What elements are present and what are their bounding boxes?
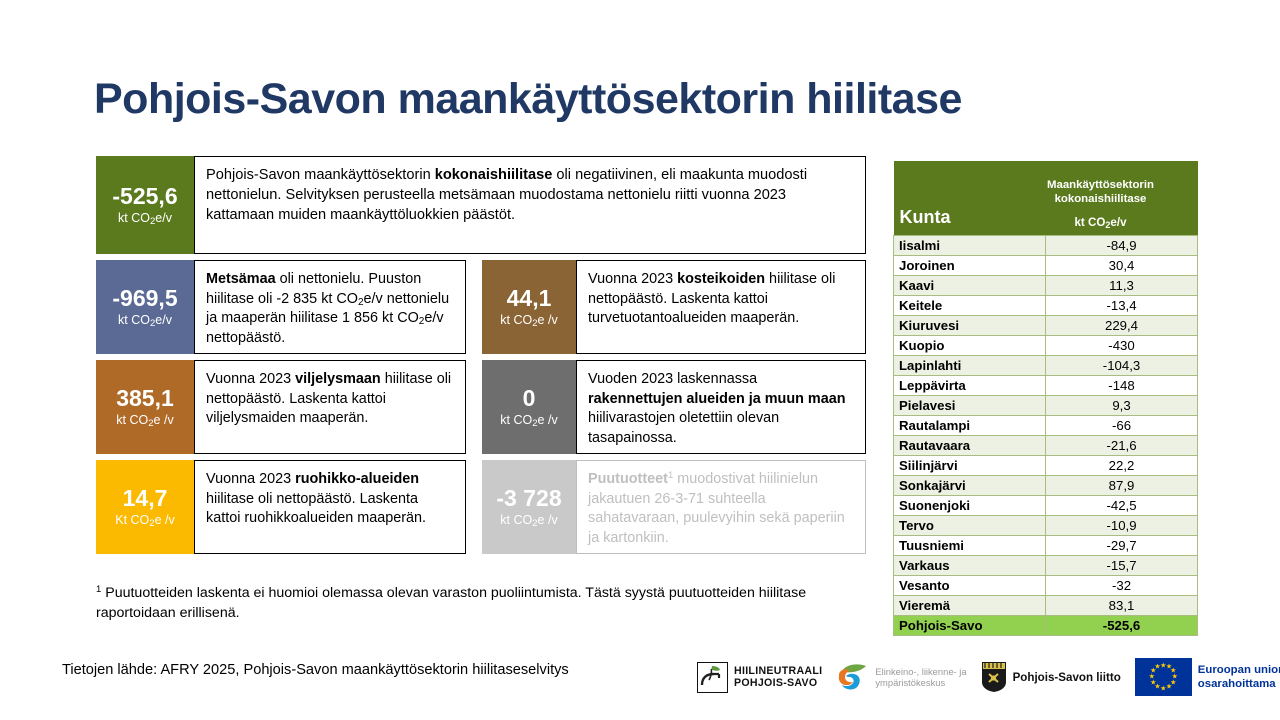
textbox-forest: Metsämaa oli nettonielu. Puuston hiilita… [194, 260, 466, 354]
table-cell-municipality: Tuusniemi [894, 536, 1046, 556]
badge-total: -525,6 kt CO2e/v [96, 156, 194, 254]
footnote: 1 Puutuotteiden laskenta ei huomioi olem… [96, 583, 871, 623]
textbox-settlement-text: Vuoden 2023 laskennassa rakennettujen al… [588, 370, 854, 448]
table-header-metric-line1: Maankäyttösektorin [1010, 178, 1192, 192]
badge-settlement: 0 kt CO2e /v [482, 360, 576, 454]
table-cell-value: -66 [1046, 416, 1198, 436]
badge-woodproducts: -3 728 kt CO2e /v [482, 460, 576, 554]
textbox-wetland: Vuonna 2023 kosteikoiden hiilitase oli n… [576, 260, 866, 354]
textbox-cropland-text: Vuonna 2023 viljelysmaan hiilitase oli n… [206, 370, 454, 429]
eu-funding-label: Euroopan unionin osarahoittama [1198, 663, 1280, 692]
table-row: Kiuruvesi229,4 [894, 316, 1198, 336]
table-cell-value: 30,4 [1046, 256, 1198, 276]
table-cell-municipality: Rautavaara [894, 436, 1046, 456]
table-cell-value: 9,3 [1046, 396, 1198, 416]
table-row: Pielavesi9,3 [894, 396, 1198, 416]
badge-grassland: 14,7 Kt CO2e /v [96, 460, 194, 554]
table-cell-value: 11,3 [1046, 276, 1198, 296]
eu-flag-icon: ★★★★★★★★★★★★ [1135, 658, 1192, 696]
panel-gap [466, 460, 482, 554]
logo-ely: Elinkeino-, liikenne- ja ympäristökeskus [836, 662, 966, 693]
table-cell-municipality: Rautalampi [894, 416, 1046, 436]
table-cell-value: -13,4 [1046, 296, 1198, 316]
badge-cropland-value: 385,1 [116, 386, 174, 410]
hiilineutraali-icon [697, 662, 728, 693]
table-cell-value: 87,9 [1046, 476, 1198, 496]
table-row: Keitele-13,4 [894, 296, 1198, 316]
panel-gap [466, 260, 482, 354]
table-row: Siilinjärvi22,2 [894, 456, 1198, 476]
ely-keskus-label: Elinkeino-, liikenne- ja ympäristökeskus [875, 666, 966, 689]
table-cell-value: -104,3 [1046, 356, 1198, 376]
table-cell-value: -32 [1046, 576, 1198, 596]
table-cell-municipality: Siilinjärvi [894, 456, 1046, 476]
table-cell-municipality: Kiuruvesi [894, 316, 1046, 336]
logo-eu: ★★★★★★★★★★★★ Euroopan unionin osarahoitt… [1135, 658, 1280, 696]
eu-star-icon: ★ [1154, 664, 1160, 671]
badge-woodproducts-value: -3 728 [496, 486, 561, 510]
table-total-value: -525,6 [1046, 616, 1198, 636]
footnote-text: Puutuotteiden laskenta ei huomioi olemas… [96, 585, 806, 621]
logo-bar: HIILINEUTRAALI POHJOIS-SAVO Elinkeino-, … [697, 655, 1280, 699]
table-row: Kuopio-430 [894, 336, 1198, 356]
badge-wetland-unit: kt CO2e /v [500, 313, 557, 328]
textbox-settlement: Vuoden 2023 laskennassa rakennettujen al… [576, 360, 866, 454]
footnote-marker: 1 [96, 584, 101, 595]
badge-forest-unit: kt CO2e/v [118, 313, 172, 328]
table-cell-municipality: Kuopio [894, 336, 1046, 356]
table-row: Leppävirta-148 [894, 376, 1198, 396]
ely-keskus-icon [836, 662, 869, 693]
eu-star-icon: ★ [1160, 685, 1166, 692]
hiilineutraali-label: HIILINEUTRAALI POHJOIS-SAVO [734, 665, 822, 689]
table-row: Rautalampi-66 [894, 416, 1198, 436]
badge-settlement-unit: kt CO2e /v [500, 413, 557, 428]
table-header-unit: kt CO2e/v [1010, 216, 1192, 230]
table-row: Iisalmi-84,9 [894, 236, 1198, 256]
table-row: Varkaus-15,7 [894, 556, 1198, 576]
badge-grassland-value: 14,7 [123, 486, 168, 510]
table-cell-value: -10,9 [1046, 516, 1198, 536]
municipality-table-wrap: Kunta Maankäyttösektorin kokonaishiilita… [893, 161, 1198, 636]
table-row: Vieremä83,1 [894, 596, 1198, 616]
textbox-forest-text: Metsämaa oli nettonielu. Puuston hiilita… [206, 270, 454, 348]
table-cell-value: -84,9 [1046, 236, 1198, 256]
table-cell-municipality: Sonkajärvi [894, 476, 1046, 496]
table-cell-value: -148 [1046, 376, 1198, 396]
table-header-row: Kunta Maankäyttösektorin kokonaishiilita… [894, 161, 1198, 236]
table-cell-value: -430 [1046, 336, 1198, 356]
table-cell-municipality: Vesanto [894, 576, 1046, 596]
table-cell-municipality: Lapinlahti [894, 356, 1046, 376]
badge-grassland-unit: Kt CO2e /v [115, 513, 175, 528]
textbox-wetland-text: Vuonna 2023 kosteikoiden hiilitase oli n… [588, 270, 854, 329]
table-row: Lapinlahti-104,3 [894, 356, 1198, 376]
panel-gap [466, 360, 482, 454]
table-row: Sonkajärvi87,9 [894, 476, 1198, 496]
table-cell-municipality: Tervo [894, 516, 1046, 536]
textbox-grassland-text: Vuonna 2023 ruohikko-alueiden hiilitase … [206, 470, 454, 529]
table-row: Tuusniemi-29,7 [894, 536, 1198, 556]
table-row: Joroinen30,4 [894, 256, 1198, 276]
panel-row-total: -525,6 kt CO2e/v Pohjois-Savon maankäytt… [96, 156, 866, 254]
badge-total-value: -525,6 [112, 184, 177, 208]
table-body: Iisalmi-84,9Joroinen30,4Kaavi11,3Keitele… [894, 236, 1198, 636]
textbox-total-text: Pohjois-Savon maankäyttösektorin kokonai… [206, 166, 854, 226]
badge-settlement-value: 0 [523, 386, 536, 410]
panel-row-grassland-woodproducts: 14,7 Kt CO2e /v Vuonna 2023 ruohikko-alu… [96, 460, 866, 554]
table-row: Suonenjoki-42,5 [894, 496, 1198, 516]
table-cell-value: 83,1 [1046, 596, 1198, 616]
badge-total-unit: kt CO2e/v [118, 211, 172, 226]
panel-row-cropland-settlement: 385,1 kt CO2e /v Vuonna 2023 viljelysmaa… [96, 360, 866, 454]
badge-forest-value: -969,5 [112, 286, 177, 310]
table-head: Kunta Maankäyttösektorin kokonaishiilita… [894, 161, 1198, 236]
eu-star-icon: ★ [1166, 683, 1172, 690]
badge-cropland-unit: kt CO2e /v [116, 413, 173, 428]
table-cell-value: -42,5 [1046, 496, 1198, 516]
table-cell-value: 229,4 [1046, 316, 1198, 336]
table-header-cell: Kunta Maankäyttösektorin kokonaishiilita… [894, 161, 1198, 236]
textbox-cropland: Vuonna 2023 viljelysmaan hiilitase oli n… [194, 360, 466, 454]
badge-woodproducts-unit: kt CO2e /v [500, 513, 557, 528]
municipality-table: Kunta Maankäyttösektorin kokonaishiilita… [893, 161, 1198, 636]
table-cell-municipality: Pielavesi [894, 396, 1046, 416]
table-cell-municipality: Varkaus [894, 556, 1046, 576]
table-header-metric-line2: kokonaishiilitase [1010, 192, 1192, 206]
source-line: Tietojen lähde: AFRY 2025, Pohjois-Savon… [62, 662, 569, 678]
table-cell-municipality: Suonenjoki [894, 496, 1046, 516]
table-row: Tervo-10,9 [894, 516, 1198, 536]
table-cell-value: 22,2 [1046, 456, 1198, 476]
textbox-woodproducts-text: Puutuotteet1 muodostivat hiilinielun jak… [588, 470, 854, 548]
table-cell-municipality: Joroinen [894, 256, 1046, 276]
pohjois-savon-liitto-label: Pohjois-Savon liitto [1013, 671, 1121, 684]
textbox-total: Pohjois-Savon maankäyttösektorin kokonai… [194, 156, 866, 254]
table-row: Rautavaara-21,6 [894, 436, 1198, 456]
table-total-label: Pohjois-Savo [894, 616, 1046, 636]
table-cell-municipality: Vieremä [894, 596, 1046, 616]
table-cell-municipality: Kaavi [894, 276, 1046, 296]
table-total-row: Pohjois-Savo-525,6 [894, 616, 1198, 636]
table-cell-municipality: Iisalmi [894, 236, 1046, 256]
table-row: Kaavi11,3 [894, 276, 1198, 296]
textbox-grassland: Vuonna 2023 ruohikko-alueiden hiilitase … [194, 460, 466, 554]
table-cell-municipality: Keitele [894, 296, 1046, 316]
logo-hiilineutraali: HIILINEUTRAALI POHJOIS-SAVO [697, 662, 822, 693]
table-cell-value: -21,6 [1046, 436, 1198, 456]
panel-row-forest-wetland: -969,5 kt CO2e/v Metsämaa oli nettonielu… [96, 260, 866, 354]
table-cell-municipality: Leppävirta [894, 376, 1046, 396]
hiilineutraali-glyph-icon [698, 663, 725, 690]
table-cell-value: -15,7 [1046, 556, 1198, 576]
badge-wetland-value: 44,1 [507, 286, 552, 310]
table-cell-value: -29,7 [1046, 536, 1198, 556]
badge-forest: -969,5 kt CO2e/v [96, 260, 194, 354]
badge-cropland: 385,1 kt CO2e /v [96, 360, 194, 454]
logo-pohjois-savon-liitto: Pohjois-Savon liitto [981, 661, 1121, 693]
page-title: Pohjois-Savon maankäyttösektorin hiilita… [94, 76, 1194, 123]
table-row: Vesanto-32 [894, 576, 1198, 596]
table-header-kunta: Kunta [900, 207, 1010, 230]
table-header-metric: Maankäyttösektorin kokonaishiilitase kt … [1010, 178, 1192, 230]
panel-area: -525,6 kt CO2e/v Pohjois-Savon maankäytt… [96, 156, 866, 560]
textbox-woodproducts: Puutuotteet1 muodostivat hiilinielun jak… [576, 460, 866, 554]
pohjois-savo-coat-of-arms-icon [981, 661, 1007, 693]
badge-wetland: 44,1 kt CO2e /v [482, 260, 576, 354]
